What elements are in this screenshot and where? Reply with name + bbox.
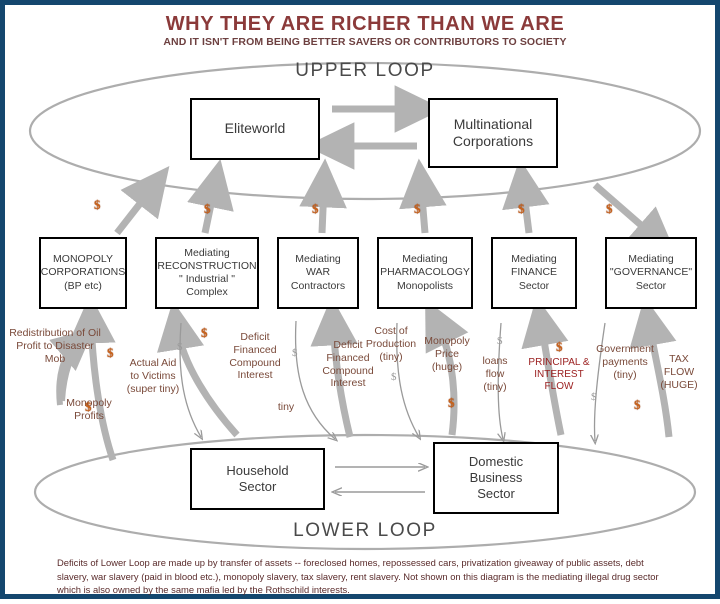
domestic-line-3: Sector bbox=[477, 486, 515, 502]
war-line-1: Mediating bbox=[295, 253, 341, 266]
box-mediating-finance[interactable]: Mediating FINANCE Sector bbox=[491, 237, 577, 309]
reconstruction-line-2: RECONSTRUCTION bbox=[157, 260, 256, 273]
governance-line-2: "GOVERNANCE" bbox=[610, 266, 692, 279]
war-line-2: WAR bbox=[306, 266, 330, 279]
upper-loop-ellipse bbox=[30, 63, 700, 199]
domestic-line-2: Business bbox=[470, 470, 523, 486]
loans-flow-text: loans flow (tiny) bbox=[482, 355, 507, 393]
finance-line-3: Sector bbox=[519, 280, 549, 293]
dollar-marker-government-payments: $ bbox=[591, 391, 597, 403]
label-deficit-financed-compound-interest-1: Deficit Financed Compound Interest bbox=[219, 331, 291, 382]
box-mediating-war-contractors[interactable]: Mediating WAR Contractors bbox=[277, 237, 359, 309]
label-principal-interest-flow: PRINCIPAL & INTEREST FLOW bbox=[521, 357, 597, 394]
diagram-canvas: WHY THEY ARE RICHER THAN WE ARE AND IT I… bbox=[0, 0, 720, 599]
arrow-pharmacology-up bbox=[421, 185, 425, 233]
label-cost-of-production: Cost of Production (tiny) bbox=[361, 325, 421, 363]
label-redistribution-oil-profit: Redistribution of Oil Profit to Disaster… bbox=[9, 327, 101, 365]
label-actual-aid-to-victims: Actual Aid to Victims (super tiny) bbox=[125, 357, 181, 395]
finance-line-2: FINANCE bbox=[511, 266, 557, 279]
arrow-monopoly-up bbox=[117, 187, 153, 233]
box-household-sector[interactable]: Household Sector bbox=[190, 448, 325, 510]
box-mediating-governance[interactable]: Mediating "GOVERNANCE" Sector bbox=[605, 237, 697, 309]
dollar-marker-actual-aid: $ bbox=[177, 341, 183, 353]
dollar-marker-deficit-1: $ bbox=[201, 325, 208, 341]
tax-flow-text: TAX FLOW (HUGE) bbox=[660, 353, 697, 391]
dollar-marker-monopoly-up: $ bbox=[94, 197, 101, 213]
dollar-marker-monopoly-profits: $ bbox=[85, 399, 92, 415]
box-mediating-pharmacology[interactable]: Mediating PHARMACOLOGY Monopolists bbox=[377, 237, 473, 309]
dollar-marker-tax-flow: $ bbox=[634, 397, 641, 413]
arrow-war-up bbox=[322, 185, 324, 233]
upper-loop-label: UPPER LOOP bbox=[5, 60, 720, 82]
label-monopoly-price: Monopoly Price (huge) bbox=[419, 335, 475, 373]
dollar-marker-finance-up: $ bbox=[518, 201, 525, 217]
lower-loop-label: LOWER LOOP bbox=[5, 520, 720, 542]
pharmacology-line-1: Mediating bbox=[402, 253, 448, 266]
reconstruction-line-4: Complex bbox=[186, 286, 227, 299]
dollar-marker-cost-production: $ bbox=[391, 371, 397, 383]
label-tiny: tiny bbox=[269, 401, 303, 414]
label-government-payments: Government payments (tiny) bbox=[591, 343, 659, 381]
box-monopoly-corporations[interactable]: MONOPOLY CORPORATIONS (BP etc) bbox=[39, 237, 127, 309]
dollar-marker-oil-profit: $ bbox=[107, 345, 114, 361]
tiny-text: tiny bbox=[278, 401, 294, 413]
box-eliteworld-label: Eliteworld bbox=[225, 120, 286, 138]
pharmacology-line-3: Monopolists bbox=[397, 280, 453, 293]
deficit-1-text: Deficit Financed Compound Interest bbox=[229, 331, 280, 381]
box-domestic-business-sector[interactable]: Domestic Business Sector bbox=[433, 442, 559, 514]
household-line-2: Sector bbox=[239, 479, 277, 495]
war-line-3: Contractors bbox=[291, 280, 345, 293]
cost-of-production-text: Cost of Production (tiny) bbox=[366, 325, 416, 363]
redistribution-oil-profit-text: Redistribution of Oil Profit to Disaster… bbox=[9, 327, 101, 365]
finance-line-1: Mediating bbox=[511, 253, 557, 266]
governance-line-3: Sector bbox=[636, 280, 666, 293]
dollar-marker-loans-flow: $ bbox=[497, 335, 503, 347]
label-loans-flow: loans flow (tiny) bbox=[473, 355, 517, 393]
reconstruction-line-1: Mediating bbox=[184, 247, 230, 260]
box-multinational-line-1: Multinational bbox=[454, 116, 533, 134]
reconstruction-line-3: " Industrial " bbox=[179, 273, 235, 286]
dollar-marker-pharmacology-up: $ bbox=[414, 201, 421, 217]
box-mediating-reconstruction[interactable]: Mediating RECONSTRUCTION " Industrial " … bbox=[155, 237, 259, 309]
dollar-marker-principal-interest: $ bbox=[556, 339, 563, 355]
box-eliteworld[interactable]: Eliteworld bbox=[190, 98, 320, 160]
principal-interest-flow-text: PRINCIPAL & INTEREST FLOW bbox=[528, 357, 589, 392]
arrow-governance-down bbox=[595, 185, 657, 239]
monopoly-corporations-line-2: CORPORATIONS bbox=[41, 266, 125, 279]
governance-line-1: Mediating bbox=[628, 253, 674, 266]
footer-note: Deficits of Lower Loop are made up by tr… bbox=[57, 556, 675, 597]
actual-aid-text: Actual Aid to Victims (super tiny) bbox=[127, 357, 180, 395]
label-tax-flow: TAX FLOW (HUGE) bbox=[655, 353, 703, 391]
dollar-marker-governance-down: $ bbox=[606, 201, 613, 217]
dollar-marker-monopoly-price: $ bbox=[448, 395, 455, 411]
monopoly-price-text: Monopoly Price (huge) bbox=[424, 335, 470, 373]
monopoly-corporations-line-1: MONOPOLY bbox=[53, 253, 113, 266]
household-line-1: Household bbox=[226, 463, 288, 479]
monopoly-corporations-line-3: (BP etc) bbox=[64, 280, 102, 293]
box-multinational-line-2: Corporations bbox=[453, 133, 533, 151]
pharmacology-line-2: PHARMACOLOGY bbox=[380, 266, 470, 279]
box-multinational-corporations[interactable]: Multinational Corporations bbox=[428, 98, 558, 168]
dollar-marker-reconstruction-up: $ bbox=[204, 201, 211, 217]
dollar-marker-war-up: $ bbox=[312, 201, 319, 217]
government-payments-text: Government payments (tiny) bbox=[596, 343, 654, 381]
domestic-line-1: Domestic bbox=[469, 454, 523, 470]
dollar-marker-tiny: $ bbox=[292, 347, 298, 359]
